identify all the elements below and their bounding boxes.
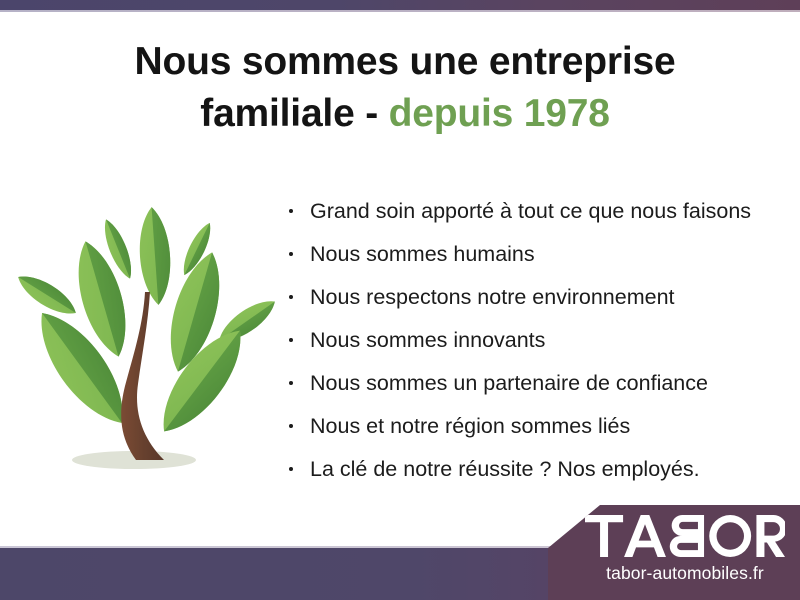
title-line-2-plain: familiale - bbox=[200, 92, 378, 135]
list-item-label: La clé de notre réussite ? Nos employés. bbox=[310, 457, 700, 481]
title-line-2: familiale - depuis 1978 bbox=[60, 88, 750, 140]
bullet-dot-icon bbox=[289, 338, 293, 342]
list-item-label: Nous sommes humains bbox=[310, 242, 535, 266]
list-item: Grand soin apporté à tout ce que nous fa… bbox=[286, 190, 786, 233]
bullet-dot-icon bbox=[289, 295, 293, 299]
list-item: Nous respectons notre environnement bbox=[286, 276, 786, 319]
list-item-label: Grand soin apporté à tout ce que nous fa… bbox=[310, 199, 751, 223]
list-item-label: Nous sommes innovants bbox=[310, 328, 545, 352]
list-item: Nous sommes humains bbox=[286, 233, 786, 276]
top-accent-hairline bbox=[0, 10, 800, 12]
title-line-1: Nous sommes une entreprise bbox=[60, 36, 750, 88]
top-accent-bar bbox=[0, 0, 800, 10]
bullet-dot-icon bbox=[289, 467, 293, 471]
tree-trunk bbox=[121, 292, 164, 460]
title-line-2-accent: depuis 1978 bbox=[389, 92, 610, 135]
list-item: Nous et notre région sommes liés bbox=[286, 405, 786, 448]
tree-illustration bbox=[14, 188, 276, 488]
brand-url[interactable]: tabor-automobiles.fr bbox=[548, 563, 800, 583]
page-title: Nous sommes une entreprise familiale - d… bbox=[60, 36, 750, 140]
list-item: La clé de notre réussite ? Nos employés. bbox=[286, 448, 786, 491]
list-item-label: Nous respectons notre environnement bbox=[310, 285, 675, 309]
bullet-dot-icon bbox=[289, 424, 293, 428]
list-item-label: Nous sommes un partenaire de confiance bbox=[310, 371, 708, 395]
slide-canvas: Nous sommes une entreprise familiale - d… bbox=[0, 0, 800, 600]
bullet-dot-icon bbox=[289, 209, 293, 213]
list-item: Nous sommes un partenaire de confiance bbox=[286, 362, 786, 405]
value-bullet-list: Grand soin apporté à tout ce que nous fa… bbox=[286, 190, 786, 491]
list-item-label: Nous et notre région sommes liés bbox=[310, 414, 630, 438]
bullet-dot-icon bbox=[289, 252, 293, 256]
list-item: Nous sommes innovants bbox=[286, 319, 786, 362]
brand-wordmark bbox=[548, 515, 800, 561]
brand-logo-panel[interactable]: tabor-automobiles.fr bbox=[548, 505, 800, 600]
bullet-dot-icon bbox=[289, 381, 293, 385]
